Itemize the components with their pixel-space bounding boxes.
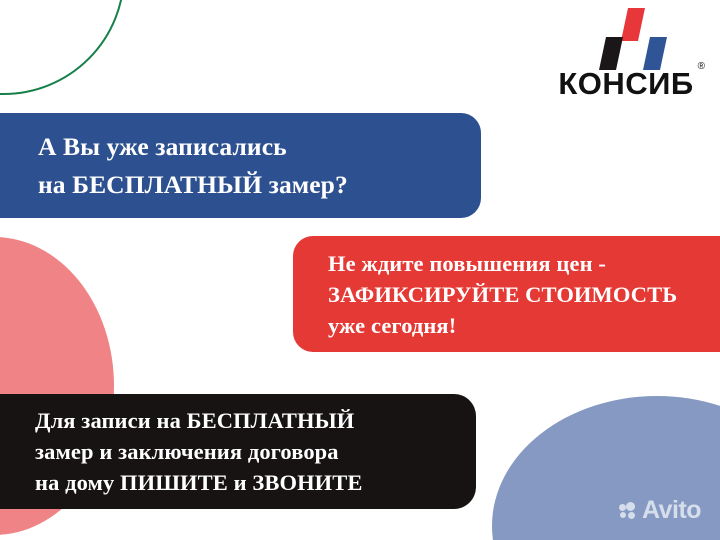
banner-red-line-2: ЗАФИКСИРУЙТЕ СТОИМОСТЬ <box>328 279 720 310</box>
banner-red-line-3: уже сегодня! <box>328 310 720 341</box>
banner-black-line-3: на дому ПИШИТЕ и ЗВОНИТЕ <box>35 467 476 498</box>
registered-trademark-icon: ® <box>698 61 705 72</box>
logo-wordmark: КОНСИБ <box>558 68 693 99</box>
banner-black-line-2: замер и заключения договора <box>35 436 476 467</box>
headline-banner-blue: А Вы уже записались на БЕСПЛАТНЫЙ замер? <box>0 113 481 218</box>
headline-banner-black: Для записи на БЕСПЛАТНЫЙ замер и заключе… <box>0 394 476 509</box>
avito-dots-icon <box>619 502 637 519</box>
green-ring-decoration <box>0 0 125 95</box>
avito-wordmark: Avito <box>642 498 701 523</box>
brand-logo: КОНСИБ ® <box>546 8 706 104</box>
logo-mark-icon <box>598 8 674 70</box>
banner-black-line-1: Для записи на БЕСПЛАТНЫЙ <box>35 405 476 436</box>
banner-blue-line-2: на БЕСПЛАТНЫЙ замер? <box>38 166 481 204</box>
logo-wordmark-wrap: КОНСИБ <box>546 68 706 99</box>
avito-watermark: Avito <box>619 498 701 523</box>
poster-canvas: КОНСИБ ® А Вы уже записались на БЕСПЛАТН… <box>0 0 720 540</box>
headline-banner-red: Не ждите повышения цен - ЗАФИКСИРУЙТЕ СТ… <box>293 236 720 352</box>
banner-red-line-1: Не ждите повышения цен - <box>328 248 720 279</box>
banner-blue-line-1: А Вы уже записались <box>38 128 481 166</box>
